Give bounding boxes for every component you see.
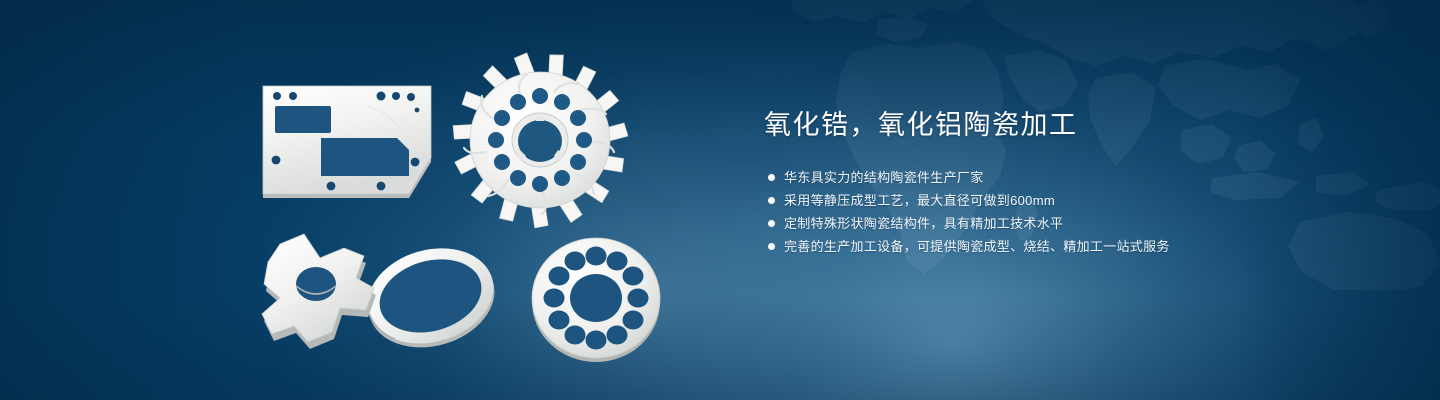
ceramic-machined-plate-icon [255, 80, 445, 205]
list-item: 采用等静压成型工艺，最大直径可做到600mm [764, 189, 1384, 212]
feature-text: 定制特殊形状陶瓷结构件，具有精加工技术水平 [784, 212, 1063, 235]
feature-text: 完善的生产加工设备，可提供陶瓷成型、烧结、精加工一站式服务 [784, 235, 1170, 258]
list-item: 完善的生产加工设备，可提供陶瓷成型、烧结、精加工一站式服务 [764, 235, 1384, 258]
feature-text: 华东具实力的结构陶瓷件生产厂家 [784, 166, 984, 189]
list-item: 华东具实力的结构陶瓷件生产厂家 [764, 166, 1384, 189]
banner-headline: 氧化锆，氧化铝陶瓷加工 [764, 106, 1384, 144]
banner-text-column: 氧化锆，氧化铝陶瓷加工 华东具实力的结构陶瓷件生产厂家 采用等静压成型工艺，最大… [764, 106, 1384, 258]
feature-list: 华东具实力的结构陶瓷件生产厂家 采用等静压成型工艺，最大直径可做到600mm 定… [764, 166, 1384, 258]
bullet-dot-icon [768, 220, 775, 227]
product-photo-group [0, 0, 720, 400]
promo-banner: 氧化锆，氧化铝陶瓷加工 华东具实力的结构陶瓷件生产厂家 采用等静压成型工艺，最大… [0, 0, 1440, 400]
list-item: 定制特殊形状陶瓷结构件，具有精加工技术水平 [764, 212, 1384, 235]
ceramic-perforated-disc-icon [522, 228, 672, 368]
ceramic-cross-plate-icon [252, 228, 402, 363]
ceramic-vaned-impeller-icon [452, 52, 628, 230]
bullet-dot-icon [768, 174, 775, 181]
feature-text: 采用等静压成型工艺，最大直径可做到600mm [784, 189, 1055, 212]
bullet-dot-icon [768, 197, 775, 204]
bullet-dot-icon [768, 243, 775, 250]
